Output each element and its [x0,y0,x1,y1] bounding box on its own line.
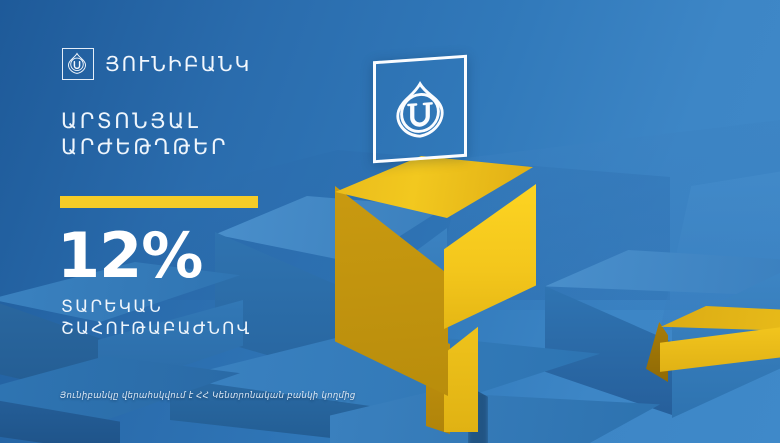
plaque-face [373,55,467,164]
unibank-logo-plaque [373,58,467,160]
headline-line-1: ԱՐՏՈՆՅԱԼ [61,108,228,134]
yellow-slab-front-face [660,324,780,376]
headline-line-2: ԱՐԺԵԹՂԹԵՐ [61,134,228,160]
regulatory-disclaimer: Յունիբանկը վերահսկվում է ՀՀ Կենտրոնական … [60,391,356,401]
rate-value: 12% [57,225,202,287]
yellow-column-left-face [335,186,448,396]
unibank-plaque-emblem-icon [389,78,451,144]
yellow-column [318,156,553,412]
subline-line-2: ՇԱՀՈՒԹԱԲԱԺՆՈՎ [61,318,252,340]
page-title: ԱՐՏՈՆՅԱԼ ԱՐԺԵԹՂԹԵՐ [61,108,228,160]
rate-subtitle: ՏԱՐԵԿԱՆ ՇԱՀՈՒԹԱԲԱԺՆՈՎ [61,296,252,340]
yellow-column-stem-right-face [444,320,478,432]
subline-line-1: ՏԱՐԵԿԱՆ [61,296,252,318]
yellow-slab-right [640,306,780,384]
banner-text-content: ՅՈՒՆԻԲԱՆԿ ԱՐՏՈՆՅԱԼ ԱՐԺԵԹՂԹԵՐ 12% ՏԱՐԵԿԱՆ… [0,0,340,443]
accent-rule [60,196,258,208]
unibank-promo-banner: ՅՈՒՆԻԲԱՆԿ ԱՐՏՈՆՅԱԼ ԱՐԺԵԹՂԹԵՐ 12% ՏԱՐԵԿԱՆ… [0,0,780,443]
unibank-square-emblem-icon [62,48,94,80]
brand-lockup: ՅՈՒՆԻԲԱՆԿ [62,48,251,80]
brand-name: ՅՈՒՆԻԲԱՆԿ [105,52,251,76]
